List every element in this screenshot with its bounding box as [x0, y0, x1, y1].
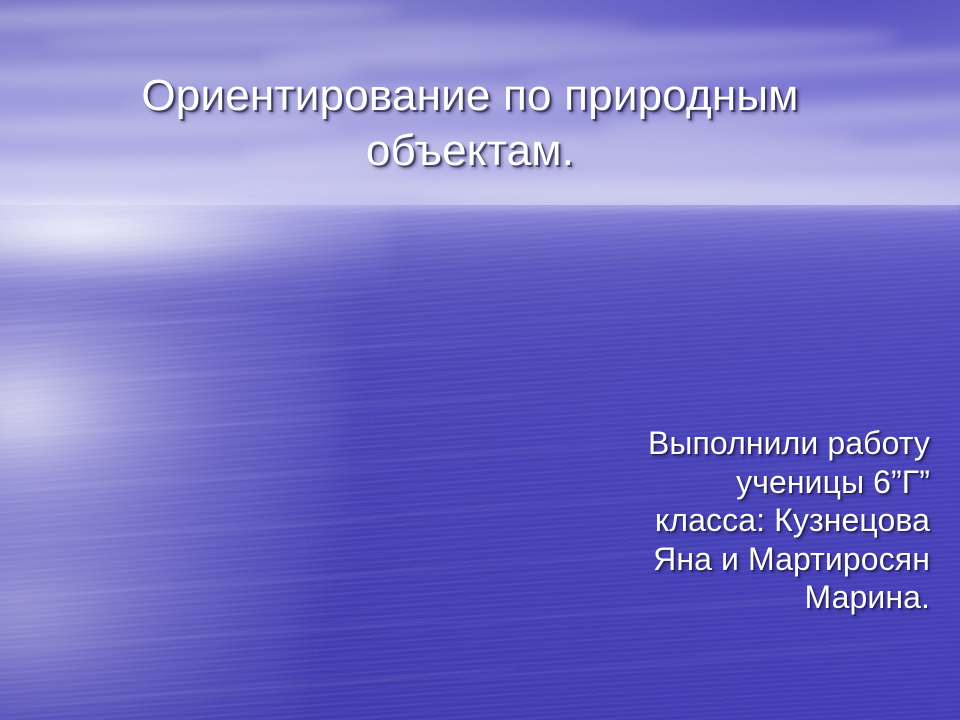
slide-title: Ориентирование по природным объектам. [110, 68, 830, 178]
slide-author-credit: Выполнили работу ученицы 6”Г” класса: Ку… [370, 424, 930, 617]
sun-glint-lower [0, 470, 300, 720]
presentation-slide: Ориентирование по природным объектам. Вы… [0, 0, 960, 720]
